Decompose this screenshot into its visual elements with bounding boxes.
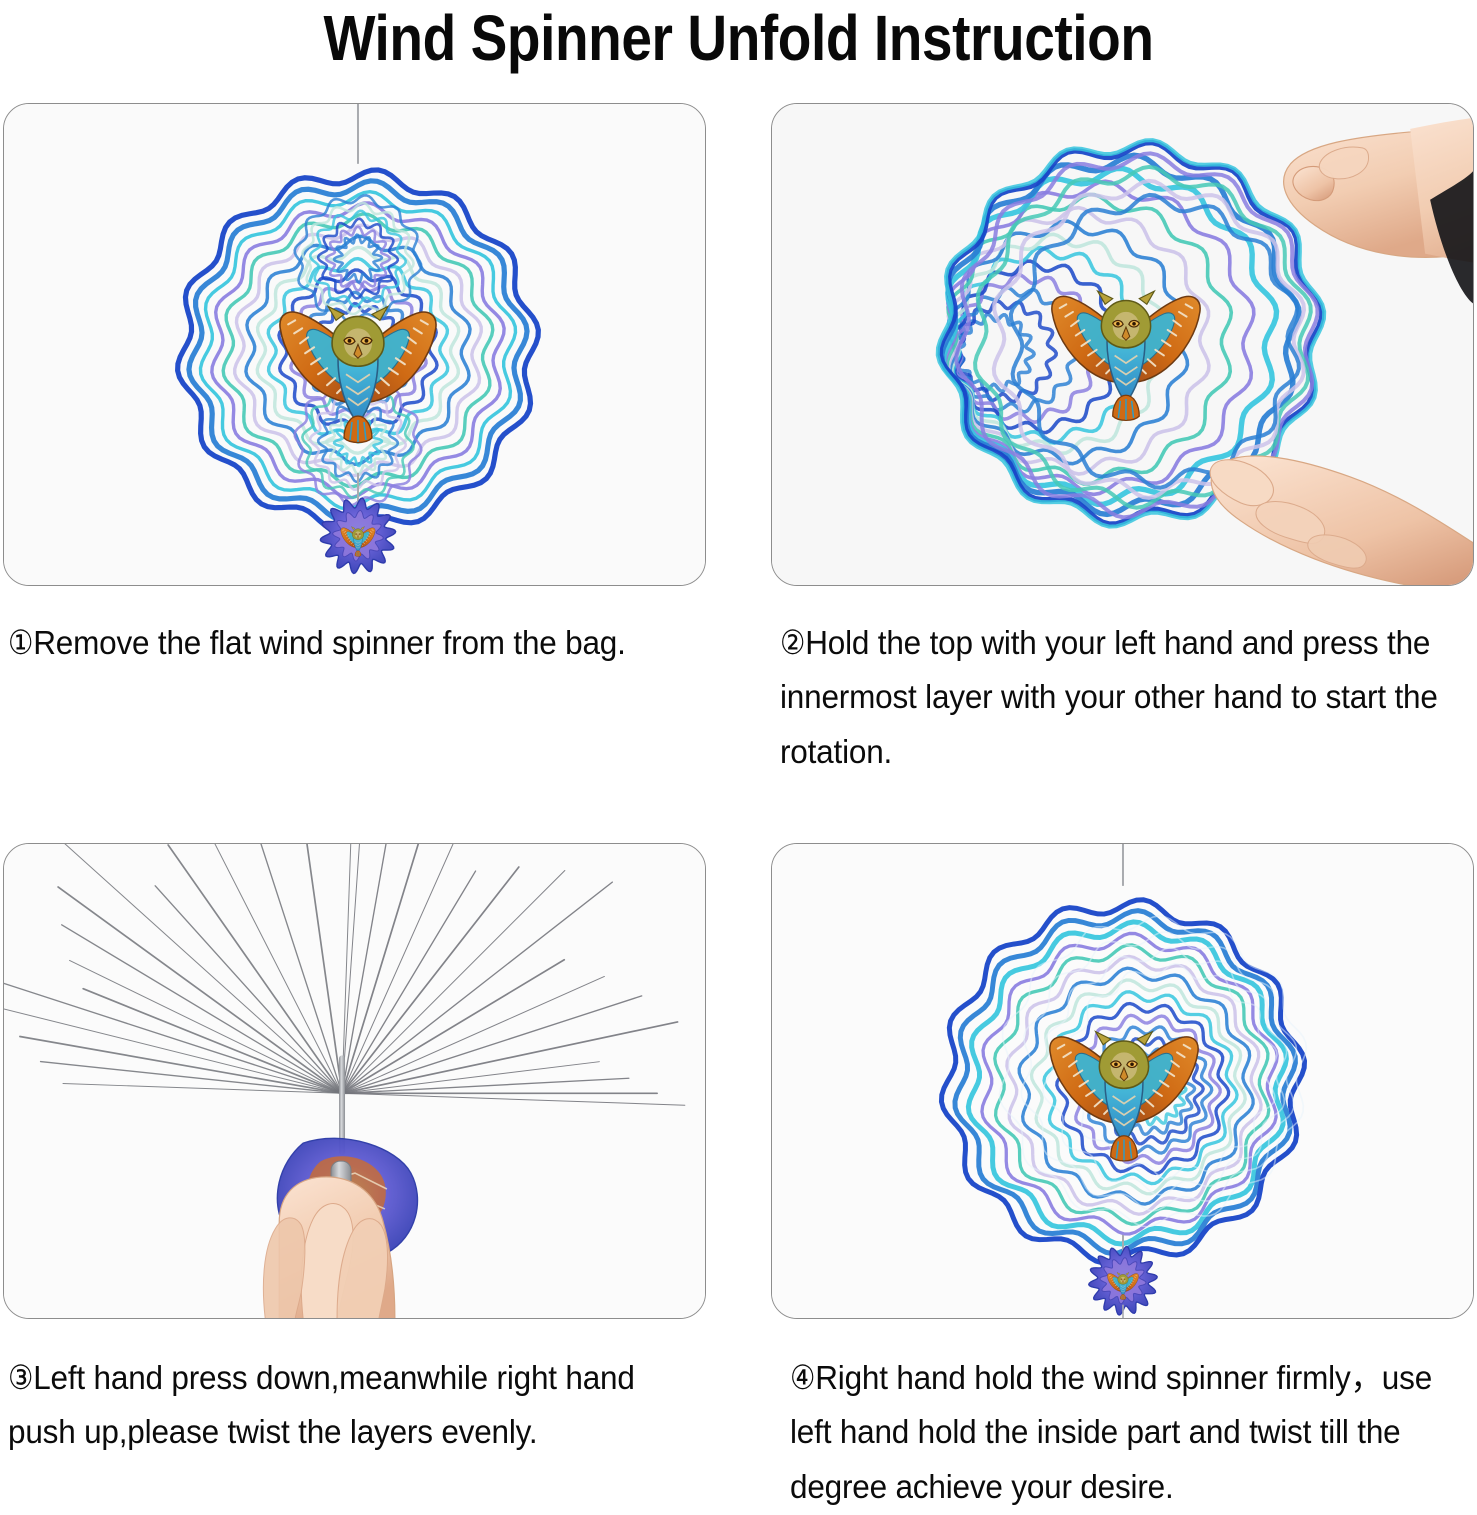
step-1-image-panel <box>3 103 706 586</box>
step-4-image-panel <box>771 843 1474 1319</box>
hands-starting-rotation-photo <box>772 104 1473 586</box>
step-2-image-panel <box>771 103 1474 586</box>
step-2-number: ② <box>780 625 805 662</box>
step-2-text: Hold the top with your left hand and pre… <box>780 625 1438 771</box>
step-1-caption: ①Remove the flat wind spinner from the b… <box>8 617 666 671</box>
finished-3d-spinner-photo <box>772 844 1473 1319</box>
step-1-text: Remove the flat wind spinner from the ba… <box>33 625 625 662</box>
step-4-text: Right hand hold the wind spinner firmly，… <box>790 1360 1432 1506</box>
page-title: Wind Spinner Unfold Instruction <box>103 2 1373 76</box>
wire-fan-photo <box>4 844 705 1319</box>
step-2-caption: ②Hold the top with your left hand and pr… <box>780 617 1449 780</box>
step-3-caption: ③Left hand press down,meanwhile right ha… <box>8 1352 675 1461</box>
step-3-text: Left hand press down,meanwhile right han… <box>8 1360 635 1451</box>
flat-wind-spinner-photo <box>4 104 705 586</box>
step-3-image-panel <box>3 843 706 1319</box>
step-4-caption: ④Right hand hold the wind spinner firmly… <box>790 1352 1467 1515</box>
step-4-number: ④ <box>790 1360 815 1397</box>
step-3-number: ③ <box>8 1360 33 1397</box>
step-1-number: ① <box>8 625 33 662</box>
instruction-sheet: Wind Spinner Unfold Instruction <box>0 0 1477 1500</box>
